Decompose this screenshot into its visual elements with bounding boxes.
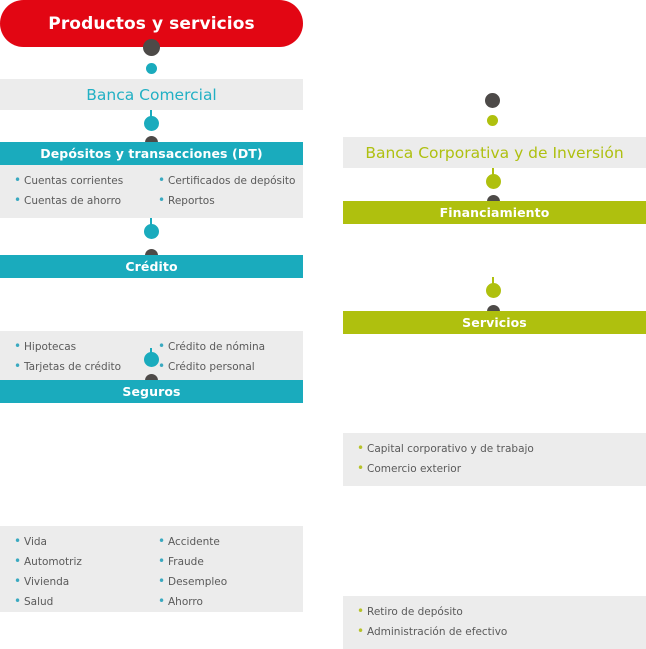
connector-dot-teal — [144, 352, 159, 367]
list-item: • Vida — [14, 532, 82, 552]
item-list-left: • Retiro de depósito • Administración de… — [357, 602, 507, 642]
list-item-label: Comercio exterior — [367, 460, 461, 479]
item-list-left: • Vida • Automotriz • Vivienda • Salud — [14, 532, 82, 612]
list-item: • Retiro de depósito — [357, 602, 507, 622]
group-body-financiamiento: • Capital corporativo y de trabajo • Com… — [343, 433, 646, 486]
bullet-icon: • — [158, 357, 168, 376]
list-item-label: Automotriz — [24, 553, 82, 572]
list-item: • Salud — [14, 592, 82, 612]
connector-dot-green — [486, 174, 501, 189]
list-item-label: Capital corporativo y de trabajo — [367, 440, 534, 459]
list-item: • Desempleo — [158, 572, 227, 592]
list-item: • Crédito personal — [158, 357, 265, 377]
list-item-label: Cuentas de ahorro — [24, 192, 121, 211]
list-item-label: Reportos — [168, 192, 215, 211]
list-item-label: Desempleo — [168, 573, 227, 592]
bullet-icon: • — [14, 552, 24, 571]
list-item: • Certificados de depósito — [158, 171, 295, 191]
bullet-icon: • — [158, 171, 168, 190]
list-item-label: Vivienda — [24, 573, 69, 592]
list-item-label: Tarjetas de crédito — [24, 358, 121, 377]
bullet-icon: • — [158, 337, 168, 356]
list-item-label: Ahorro — [168, 593, 203, 612]
bullet-icon: • — [14, 532, 24, 551]
bullet-icon: • — [14, 337, 24, 356]
item-list-left: • Capital corporativo y de trabajo • Com… — [357, 439, 534, 479]
list-item-label: Vida — [24, 533, 47, 552]
list-item: • Automotriz — [14, 552, 82, 572]
bullet-icon: • — [158, 532, 168, 551]
bullet-icon: • — [14, 572, 24, 591]
item-list-left: • Cuentas corrientes • Cuentas de ahorro — [14, 171, 123, 211]
bullet-icon: • — [14, 171, 24, 190]
list-item: • Capital corporativo y de trabajo — [357, 439, 534, 459]
list-item: • Accidente — [158, 532, 227, 552]
branch-band-commercial: Banca Comercial — [0, 79, 303, 110]
branch-band-corporate: Banca Corporativa y de Inversión — [343, 137, 646, 168]
list-item-label: Crédito personal — [168, 358, 255, 377]
list-item-label: Certificados de depósito — [168, 172, 295, 191]
bullet-icon: • — [158, 572, 168, 591]
bullet-icon: • — [357, 622, 367, 641]
bullet-icon: • — [158, 552, 168, 571]
bullet-icon: • — [158, 191, 168, 210]
bullet-icon: • — [357, 602, 367, 621]
list-item: • Cuentas de ahorro — [14, 191, 123, 211]
list-item: • Fraude — [158, 552, 227, 572]
group-header-servicios: Servicios — [343, 311, 646, 334]
item-list-right: • Certificados de depósito • Reportos — [158, 171, 295, 211]
list-item-label: Accidente — [168, 533, 220, 552]
bullet-icon: • — [158, 592, 168, 611]
list-item: • Tarjetas de crédito — [14, 357, 121, 377]
group-header-financiamiento: Financiamiento — [343, 201, 646, 224]
list-item: • Vivienda — [14, 572, 82, 592]
group-body-depositos: • Cuentas corrientes • Cuentas de ahorro… — [0, 165, 303, 218]
list-item: • Reportos — [158, 191, 295, 211]
group-body-seguros: • Vida • Automotriz • Vivienda • Salud •… — [0, 526, 303, 612]
list-item: • Ahorro — [158, 592, 227, 612]
list-item: • Cuentas corrientes — [14, 171, 123, 191]
list-item: • Hipotecas — [14, 337, 121, 357]
list-item: • Crédito de nómina — [158, 337, 265, 357]
connector-dot-teal — [144, 116, 159, 131]
bullet-icon: • — [14, 357, 24, 376]
list-item-label: Salud — [24, 593, 53, 612]
group-body-servicios: • Retiro de depósito • Administración de… — [343, 596, 646, 649]
list-item-label: Retiro de depósito — [367, 603, 463, 622]
list-item: • Comercio exterior — [357, 459, 534, 479]
bullet-icon: • — [14, 592, 24, 611]
group-header-credito: Crédito — [0, 255, 303, 278]
connector-dot-dark — [485, 93, 500, 108]
group-header-depositos: Depósitos y transacciones (DT) — [0, 142, 303, 165]
group-header-seguros: Seguros — [0, 380, 303, 403]
list-item-label: Cuentas corrientes — [24, 172, 123, 191]
bullet-icon: • — [357, 439, 367, 458]
item-list-right: • Accidente • Fraude • Desempleo • Ahorr… — [158, 532, 227, 612]
bullet-icon: • — [14, 191, 24, 210]
connector-dot-teal — [146, 63, 157, 74]
item-list-right: • Crédito de nómina • Crédito personal — [158, 337, 265, 377]
list-item-label: Fraude — [168, 553, 204, 572]
connector-dot-green — [487, 115, 498, 126]
connector-dot-dark — [143, 39, 160, 56]
list-item-label: Crédito de nómina — [168, 338, 265, 357]
connector-dot-teal — [144, 224, 159, 239]
list-item-label: Hipotecas — [24, 338, 76, 357]
bullet-icon: • — [357, 459, 367, 478]
connector-dot-green — [486, 283, 501, 298]
list-item-label: Administración de efectivo — [367, 623, 507, 642]
org-diagram: Productos y servicios Banca Comercial De… — [0, 0, 646, 489]
list-item: • Administración de efectivo — [357, 622, 507, 642]
